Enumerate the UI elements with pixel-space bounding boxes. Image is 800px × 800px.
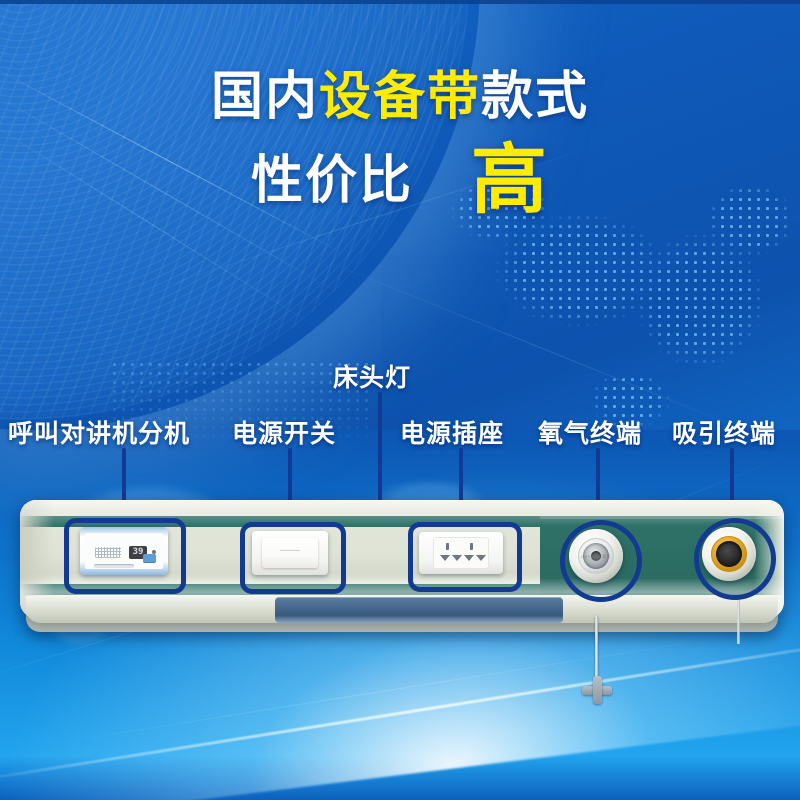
callout-label-suction-outlet: 吸引终端 [672,414,776,450]
banner-stage: 国内设备带款式 性价比高 呼叫对讲机分机 电源开关 床头灯 电源插座 氧气终端 … [0,0,800,800]
headline-emphasis: 高 [471,138,549,223]
highlight-circle-oxygen [560,520,642,602]
cross-connector-icon [582,676,612,704]
callout-label-power-switch: 电源开关 [232,414,336,450]
top-edge-bar [0,0,800,4]
headline-line-1: 国内设备带款式 [0,70,800,125]
headline-seg-3: 款式 [481,68,589,126]
callout-label-intercom: 呼叫对讲机分机 [8,414,190,450]
highlight-box-power-socket [408,522,522,592]
headline-line-2: 性价比高 [0,141,800,221]
bed-lamp-diffuser [275,597,563,623]
cross-connector-vertical [593,676,602,704]
headline-seg-1: 国内 [211,68,319,126]
headline-seg-2: 设备带 [319,68,481,126]
suction-hose [737,600,740,644]
highlight-circle-suction [694,518,776,600]
headline-seg-4: 性价比 [251,152,413,210]
callout-label-bed-lamp: 床头灯 [333,358,411,394]
callout-label-oxygen-outlet: 氧气终端 [538,414,642,450]
oxygen-hose [595,616,598,682]
callout-label-power-socket: 电源插座 [400,414,504,450]
headline-block: 国内设备带款式 性价比高 [0,70,800,220]
highlight-box-intercom [64,518,186,594]
highlight-box-power-switch [240,522,346,594]
